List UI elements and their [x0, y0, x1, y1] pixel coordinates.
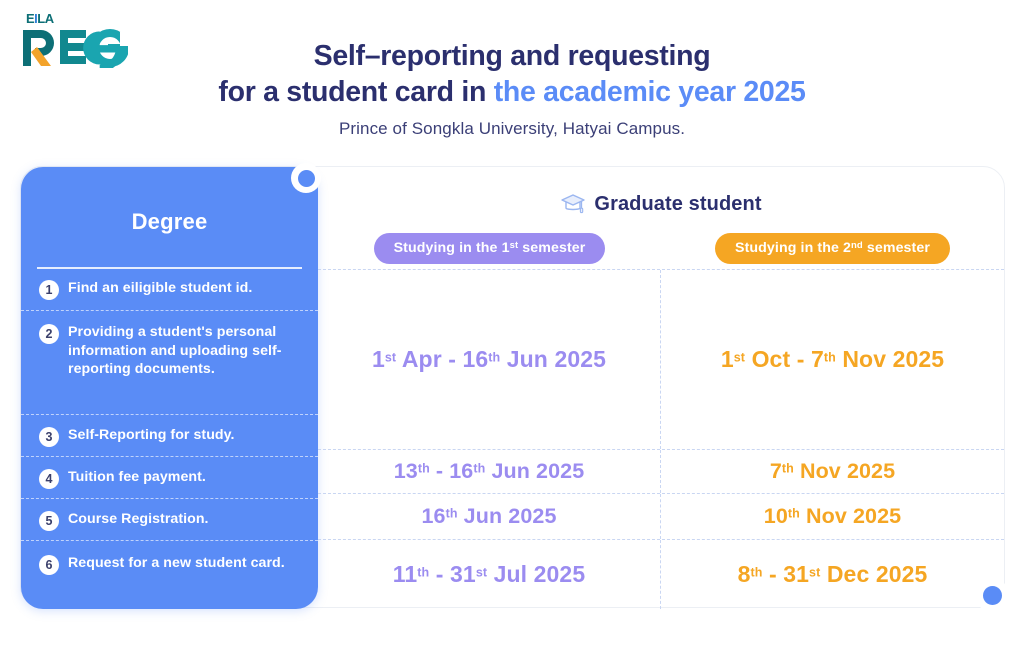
date-ordinal: th — [473, 461, 485, 475]
date-ordinal: th — [782, 461, 794, 475]
date-ordinal: th — [446, 506, 458, 520]
step-label-4: Tuition fee payment. — [68, 468, 206, 487]
date-part: 11 — [393, 561, 418, 587]
heading-line-2-accent: the academic year 2025 — [494, 76, 806, 108]
schedule-right-area: Graduate student Studying in the 1st sem… — [318, 167, 1004, 607]
step-number-2: 2 — [39, 324, 59, 344]
date-ordinal: st — [809, 565, 820, 579]
semester-badges-row: Studying in the 1st semester Studying in… — [318, 227, 1004, 269]
schedule-row-1: 1st Apr - 16th Jun 2025 1st Oct - 7th No… — [318, 269, 1004, 449]
date-part: Oct - 7 — [745, 346, 824, 372]
step-number-1: 1 — [39, 280, 59, 300]
semester-2-badge-ordinal: nd — [851, 240, 863, 251]
date-ordinal: th — [824, 350, 836, 364]
infographic-page: EILA Self–reporting and requesting for a… — [0, 0, 1024, 649]
semester-1-badge-prefix: Studying in the 1 — [394, 240, 510, 256]
schedule-row-4-sem2-cell: 8th - 31st Dec 2025 — [661, 540, 1004, 609]
step-number-5: 5 — [39, 511, 59, 531]
schedule-row-4: 11th - 31st Jul 2025 8th - 31st Dec 2025 — [318, 539, 1004, 609]
step-number-3: 3 — [39, 427, 59, 447]
schedule-row-2: 13th - 16th Jun 2025 7th Nov 2025 — [318, 449, 1004, 493]
schedule-card: Degree 1 Find an eiligible student id. 2… — [20, 166, 1005, 608]
decorative-dot-top — [291, 163, 321, 193]
date-ordinal: st — [385, 350, 396, 364]
date-part: Jun 2025 — [458, 504, 557, 528]
degree-step-6[interactable]: 6 Request for a new student card. — [21, 541, 318, 611]
date-part: 10 — [764, 504, 788, 528]
degree-step-2[interactable]: 2 Providing a student's personal informa… — [21, 311, 318, 415]
schedule-row-1-sem1-date: 1st Apr - 16th Jun 2025 — [372, 346, 606, 373]
heading-line-2-plain: for a student card in — [218, 76, 493, 108]
schedule-row-2-sem2-date: 7th Nov 2025 — [770, 459, 895, 484]
semester-2-badge-suffix: semester — [863, 240, 930, 256]
graduate-student-title: Graduate student — [594, 193, 761, 216]
schedule-row-4-sem2-date: 8th - 31st Dec 2025 — [738, 561, 928, 588]
schedule-row-2-sem1-cell: 13th - 16th Jun 2025 — [318, 450, 661, 493]
date-part: 1 — [372, 346, 385, 372]
date-ordinal: st — [476, 565, 487, 579]
date-part: Jun 2025 — [485, 459, 584, 483]
schedule-row-3: 16th Jun 2025 10th Nov 2025 — [318, 493, 1004, 539]
date-part: Dec 2025 — [820, 561, 927, 587]
step-number-4: 4 — [39, 469, 59, 489]
heading-line-1: Self–reporting and requesting — [314, 40, 711, 72]
step-number-6: 6 — [39, 555, 59, 575]
date-part: - 31 — [763, 561, 810, 587]
date-ordinal: th — [418, 461, 430, 475]
date-part: Apr - 16 — [396, 346, 488, 372]
step-label-5: Course Registration. — [68, 510, 209, 529]
page-heading: Self–reporting and requesting for a stud… — [0, 38, 1024, 139]
schedule-row-1-sem1-cell: 1st Apr - 16th Jun 2025 — [318, 270, 661, 449]
degree-step-4[interactable]: 4 Tuition fee payment. — [21, 457, 318, 499]
date-part: 16 — [421, 504, 445, 528]
date-ordinal: st — [734, 350, 745, 364]
schedule-row-2-sem1-date: 13th - 16th Jun 2025 — [394, 459, 585, 484]
date-part: Nov 2025 — [836, 346, 944, 372]
semester-2-badge[interactable]: Studying in the 2nd semester — [715, 233, 950, 264]
degree-step-list: 1 Find an eiligible student id. 2 Provid… — [21, 268, 318, 611]
decorative-dot-bottom — [975, 578, 1009, 612]
heading-title: Self–reporting and requesting for a stud… — [0, 38, 1024, 110]
date-ordinal: th — [751, 565, 763, 579]
schedule-row-1-sem2-cell: 1st Oct - 7th Nov 2025 — [661, 270, 1004, 449]
date-ordinal: th — [788, 506, 800, 520]
schedule-row-3-sem2-date: 10th Nov 2025 — [764, 504, 901, 529]
date-ordinal: th — [488, 350, 500, 364]
degree-title: Degree — [21, 167, 318, 235]
decorative-dot-top-inner — [298, 170, 315, 187]
schedule-row-3-sem1-cell: 16th Jun 2025 — [318, 494, 661, 539]
date-part: 1 — [721, 346, 734, 372]
date-part: Nov 2025 — [800, 504, 901, 528]
schedule-row-4-sem1-cell: 11th - 31st Jul 2025 — [318, 540, 661, 609]
date-part: 8 — [738, 561, 751, 587]
schedule-row-1-sem2-date: 1st Oct - 7th Nov 2025 — [721, 346, 944, 373]
date-ordinal: th — [417, 565, 429, 579]
date-part: Jun 2025 — [500, 346, 606, 372]
date-part: - 31 — [429, 561, 476, 587]
decorative-dot-bottom-inner — [983, 586, 1002, 605]
semester-1-badge-suffix: semester — [518, 240, 585, 256]
step-label-3: Self-Reporting for study. — [68, 426, 235, 445]
semester-2-badge-cell: Studying in the 2nd semester — [661, 227, 1004, 269]
degree-panel: Degree 1 Find an eiligible student id. 2… — [21, 167, 318, 609]
degree-step-3[interactable]: 3 Self-Reporting for study. — [21, 415, 318, 457]
schedule-grid: 1st Apr - 16th Jun 2025 1st Oct - 7th No… — [318, 269, 1004, 609]
semester-1-badge-cell: Studying in the 1st semester — [318, 227, 661, 269]
step-label-2: Providing a student's personal informati… — [68, 323, 304, 379]
date-part: Nov 2025 — [794, 459, 895, 483]
step-label-1: Find an eiligible student id. — [68, 279, 252, 298]
semester-1-badge-ordinal: st — [510, 240, 519, 251]
heading-subtitle: Prince of Songkla University, Hatyai Cam… — [0, 119, 1024, 139]
graduation-cap-icon — [560, 193, 586, 215]
date-part: Jul 2025 — [487, 561, 585, 587]
date-part: 13 — [394, 459, 418, 483]
graduate-student-header: Graduate student — [318, 167, 1004, 227]
degree-step-5[interactable]: 5 Course Registration. — [21, 499, 318, 541]
schedule-row-4-sem1-date: 11th - 31st Jul 2025 — [393, 561, 585, 588]
date-part: - 16 — [430, 459, 474, 483]
schedule-row-3-sem2-cell: 10th Nov 2025 — [661, 494, 1004, 539]
semester-1-badge[interactable]: Studying in the 1st semester — [374, 233, 606, 264]
date-part: 7 — [770, 459, 782, 483]
step-label-6: Request for a new student card. — [68, 554, 285, 573]
degree-step-1[interactable]: 1 Find an eiligible student id. — [21, 268, 318, 311]
schedule-row-3-sem1-date: 16th Jun 2025 — [421, 504, 556, 529]
schedule-row-2-sem2-cell: 7th Nov 2025 — [661, 450, 1004, 493]
semester-2-badge-prefix: Studying in the 2 — [735, 240, 851, 256]
